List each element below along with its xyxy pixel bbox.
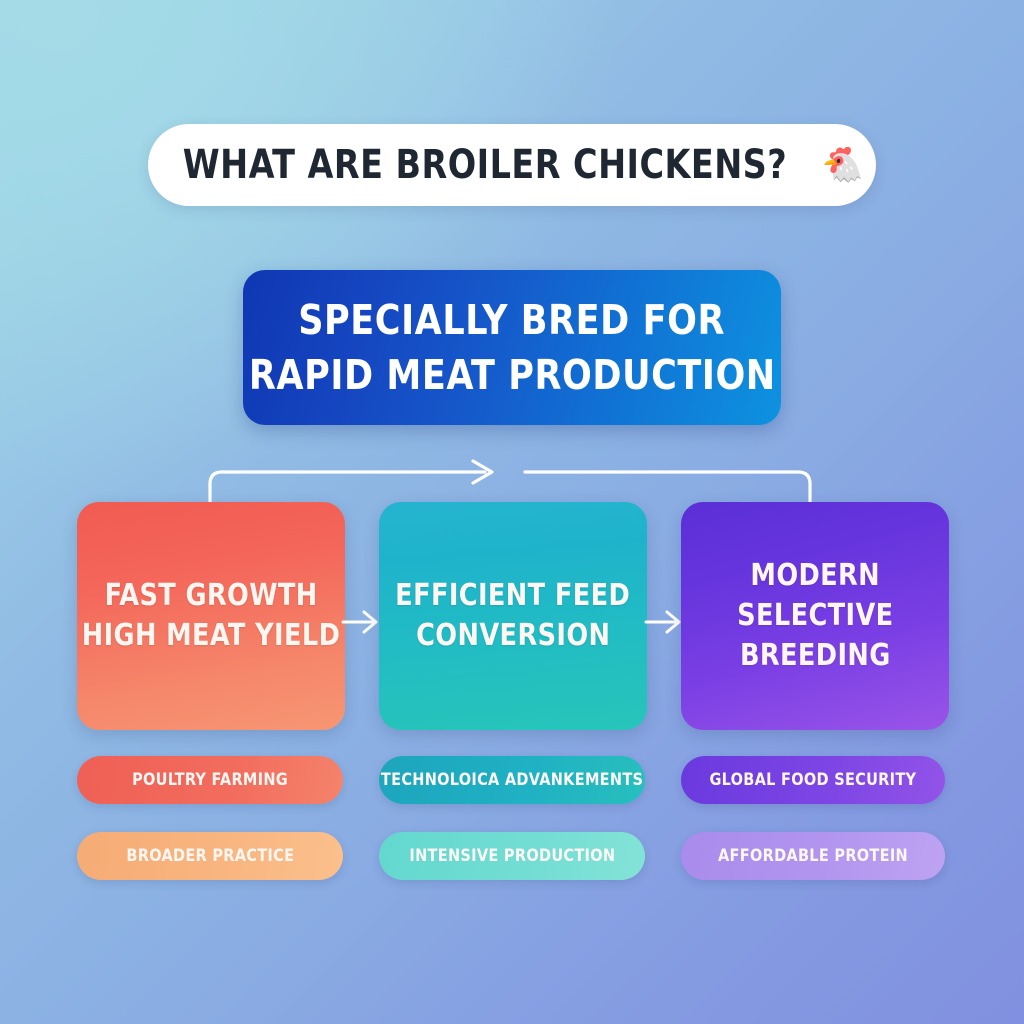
card-efficient-feed-line-1: EFFICIENT FEED [395,576,630,616]
subtitle-banner: SPECIALLY BRED FOR RAPID MEAT PRODUCTION [243,270,781,425]
tag-poultry-farming-label: POULTRY FARMING [132,770,288,790]
subtitle-line-2: RAPID MEAT PRODUCTION [249,348,776,403]
card-efficient-feed[interactable]: EFFICIENT FEED CONVERSION [379,502,647,730]
card-fast-growth[interactable]: FAST GROWTH HIGH MEAT YIELD [77,502,345,730]
card-selective-breeding[interactable]: MODERN SELECTIVE BREEDING [681,502,949,730]
card-efficient-feed-line-2: CONVERSION [416,616,610,656]
title-banner: WHAT ARE BROILER CHICKENS? 🐔 [148,124,876,206]
page-title: WHAT ARE BROILER CHICKENS? [183,142,787,188]
tag-global-food-security-label: GLOBAL FOOD SECURITY [710,770,917,790]
tag-global-food-security[interactable]: GLOBAL FOOD SECURITY [681,756,945,804]
tag-poultry-farming[interactable]: POULTRY FARMING [77,756,343,804]
arrow-card1-to-card2 [337,604,385,640]
tag-intensive-production-label: INTENSIVE PRODUCTION [409,846,615,866]
card-fast-growth-line-1: FAST GROWTH [105,576,318,616]
tag-affordable-protein[interactable]: AFFORDABLE PROTEIN [681,832,945,880]
tag-technological-advancements[interactable]: TECHNOLOICA ADVANKEMENTS [379,756,645,804]
chicken-emoji: 🐔 [822,148,864,182]
bracket-arrowhead [473,461,492,483]
card-fast-growth-line-2: HIGH MEAT YIELD [82,616,340,656]
tag-broader-practice-label: BROADER PRACTICE [126,846,294,866]
tag-affordable-protein-label: AFFORDABLE PROTEIN [718,846,908,866]
card-selective-breeding-line-1: MODERN [750,556,880,596]
tag-intensive-production[interactable]: INTENSIVE PRODUCTION [379,832,645,880]
infographic-canvas: WHAT ARE BROILER CHICKENS? 🐔 SPECIALLY B… [0,0,1024,1024]
tag-broader-practice[interactable]: BROADER PRACTICE [77,832,343,880]
tag-technological-advancements-label: TECHNOLOICA ADVANKEMENTS [381,770,643,790]
subtitle-line-1: SPECIALLY BRED FOR [299,293,726,348]
card-selective-breeding-line-3: BREEDING [740,636,891,676]
card-selective-breeding-line-2: SELECTIVE [737,596,893,636]
